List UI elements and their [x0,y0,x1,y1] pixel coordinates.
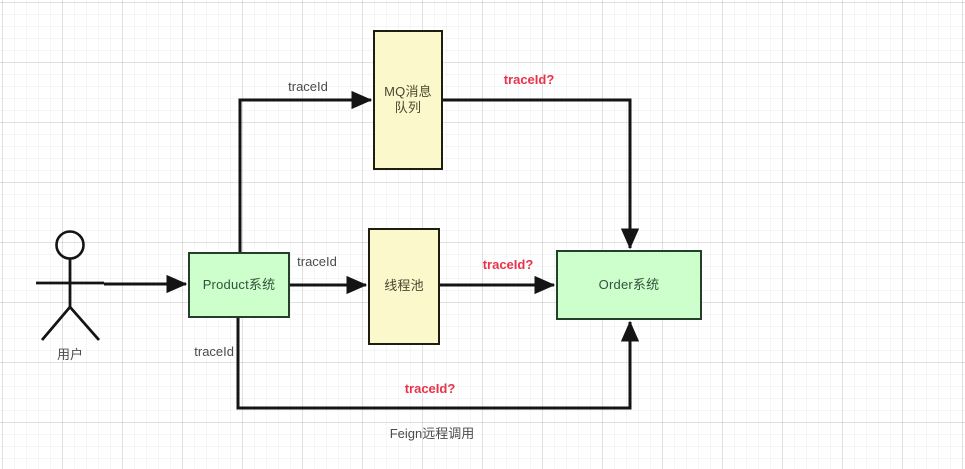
edge-label-threadpool-to-order: traceId? [483,257,534,272]
node-product-system-label: Product系统 [203,277,276,293]
node-product-system[interactable]: Product系统 [188,252,290,318]
edge-mq-to-order [443,100,630,248]
node-order-system[interactable]: Order系统 [556,250,702,320]
node-thread-pool-label: 线程池 [384,278,424,294]
edge-label-mq-to-order: traceId? [504,72,555,87]
actor-figure [36,232,104,341]
node-thread-pool[interactable]: 线程池 [368,228,440,345]
feign-caption: Feign远程调用 [390,423,475,442]
node-mq-queue-label-line2: 队列 [395,100,421,116]
edge-label-product-to-threadpool: traceId [297,254,337,269]
edge-label-product-to-mq: traceId [288,79,328,94]
edge-label-feign-to-order: traceId? [405,381,456,396]
diagram-vector-layer [0,0,965,469]
actor-label: 用户 [57,344,83,363]
edge-label-product-to-feign: traceId [194,344,234,359]
edge-product-to-mq [240,100,371,252]
node-order-system-label: Order系统 [599,277,660,293]
node-mq-queue-label-line1: MQ消息 [384,84,432,100]
node-mq-queue[interactable]: MQ消息 队列 [373,30,443,170]
diagram-canvas: Product系统 MQ消息 队列 线程池 Order系统 用户 traceId… [0,0,965,469]
